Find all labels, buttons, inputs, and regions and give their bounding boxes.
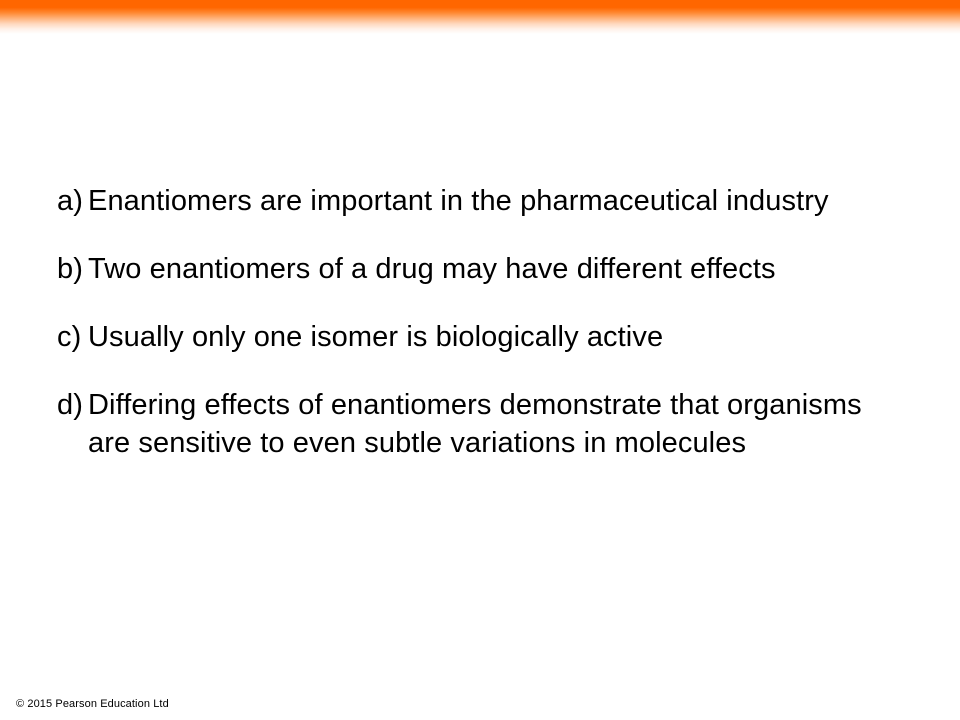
copyright-notice: © 2015 Pearson Education Ltd xyxy=(16,697,169,711)
list-item-text: Two enantiomers of a drug may have diffe… xyxy=(88,250,878,288)
list-item: d) Differing effects of enantiomers demo… xyxy=(57,386,937,462)
list-item-marker: c) xyxy=(57,318,88,356)
list-item-text: Enantiomers are important in the pharmac… xyxy=(88,182,878,220)
orange-gradient-band xyxy=(0,0,960,34)
list-item-marker: d) xyxy=(57,386,88,424)
list-item: b) Two enantiomers of a drug may have di… xyxy=(57,250,937,288)
list-item: c) Usually only one isomer is biological… xyxy=(57,318,937,356)
list-item-marker: b) xyxy=(57,250,88,288)
list-item-text: Differing effects of enantiomers demonst… xyxy=(88,386,878,462)
lettered-list: a) Enantiomers are important in the phar… xyxy=(57,182,937,462)
list-item-marker: a) xyxy=(57,182,88,220)
slide-body: a) Enantiomers are important in the phar… xyxy=(57,182,937,462)
slide-canvas: a) Enantiomers are important in the phar… xyxy=(0,0,960,720)
list-item-text: Usually only one isomer is biologically … xyxy=(88,318,878,356)
list-item: a) Enantiomers are important in the phar… xyxy=(57,182,937,220)
